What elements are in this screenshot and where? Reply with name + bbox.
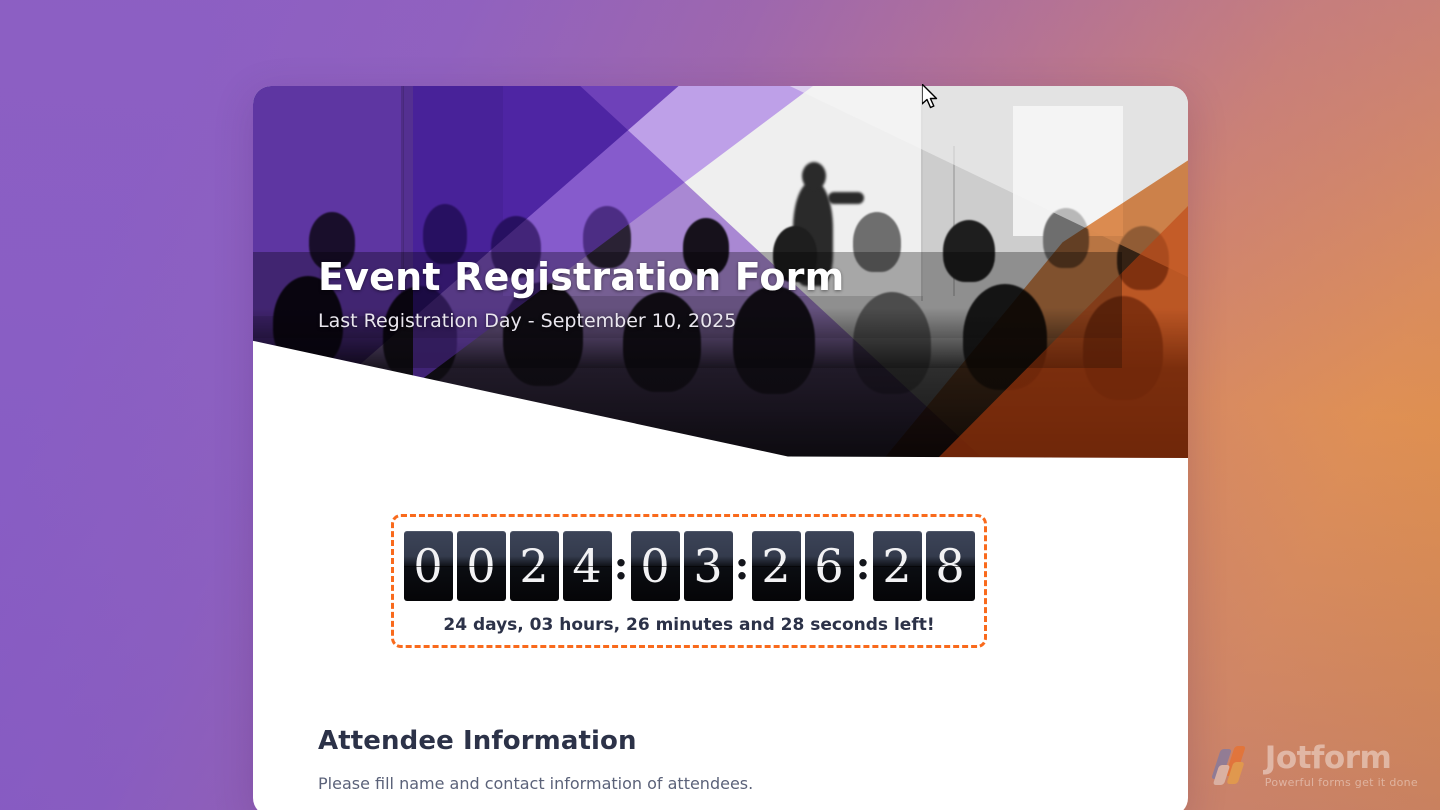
- countdown-widget: 0 0 2 4 : 0 3 : 2 6 : 2 8: [391, 514, 987, 648]
- countdown-separator: :: [612, 531, 631, 601]
- countdown-digit: 0: [631, 531, 680, 601]
- page-subtitle: Last Registration Day - September 10, 20…: [318, 310, 844, 333]
- attendee-information-section: Attendee Information Please fill name an…: [318, 726, 753, 793]
- jotform-logo-wordmark: Jotform Powerful forms get it done: [1265, 743, 1418, 788]
- countdown-digit: 8: [926, 531, 975, 601]
- header-text-block: Event Registration Form Last Registratio…: [318, 256, 844, 332]
- countdown-digit: 0: [457, 531, 506, 601]
- speaker-arm: [828, 192, 864, 204]
- countdown-digit-row: 0 0 2 4 : 0 3 : 2 6 : 2 8: [394, 531, 984, 601]
- form-card: Event Registration Form Last Registratio…: [253, 86, 1188, 810]
- countdown-separator: :: [854, 531, 873, 601]
- countdown-digit: 4: [563, 531, 612, 601]
- section-subheading: Please fill name and contact information…: [318, 774, 753, 793]
- countdown-digit: 6: [805, 531, 854, 601]
- section-heading: Attendee Information: [318, 726, 753, 756]
- jotform-watermark[interactable]: Jotform Powerful forms get it done: [1214, 743, 1418, 788]
- jotform-tagline: Powerful forms get it done: [1265, 777, 1418, 788]
- countdown-digit: 2: [510, 531, 559, 601]
- countdown-digit: 2: [752, 531, 801, 601]
- page-background: Event Registration Form Last Registratio…: [0, 0, 1440, 810]
- countdown-caption: 24 days, 03 hours, 26 minutes and 28 sec…: [394, 615, 984, 635]
- countdown-days-group: 0 0 2 4: [404, 531, 612, 601]
- countdown-digit: 2: [873, 531, 922, 601]
- page-title: Event Registration Form: [318, 256, 844, 300]
- speaker-head: [802, 162, 826, 190]
- countdown-separator: :: [733, 531, 752, 601]
- jotform-brand-name: Jotform: [1265, 743, 1418, 774]
- countdown-digit: 3: [684, 531, 733, 601]
- subtitle-scrim-band: [253, 338, 1122, 368]
- countdown-minutes-group: 2 6: [752, 531, 854, 601]
- countdown-digit: 0: [404, 531, 453, 601]
- countdown-hours-group: 0 3: [631, 531, 733, 601]
- countdown-seconds-group: 2 8: [873, 531, 975, 601]
- jotform-logo-icon: [1214, 746, 1256, 786]
